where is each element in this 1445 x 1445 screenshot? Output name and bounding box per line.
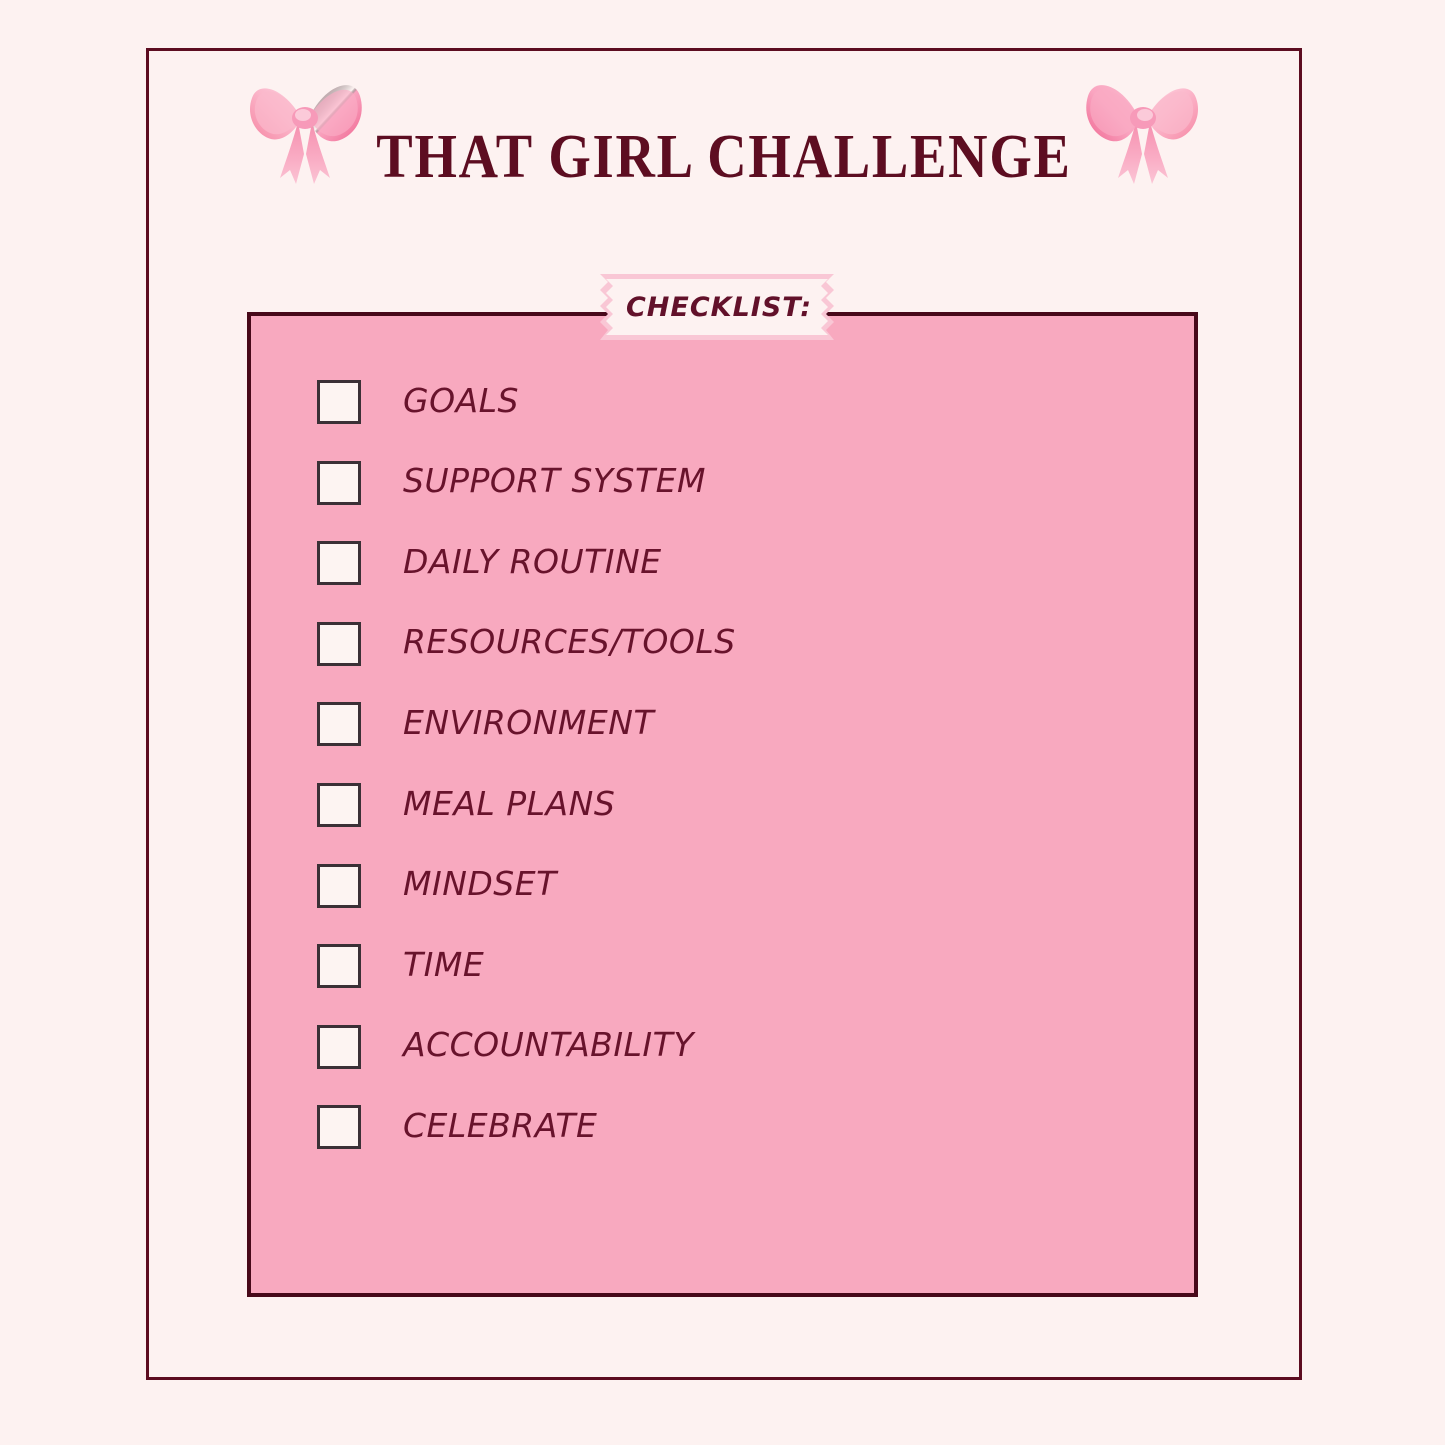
checklist-row[interactable]: CELEBRATE xyxy=(317,1103,597,1151)
page-title: THAT GIRL CHALLENGE xyxy=(215,126,1232,188)
checkbox-resources-tools[interactable] xyxy=(317,622,361,666)
checklist-item-label: ENVIRONMENT xyxy=(403,706,654,739)
checkbox-accountability[interactable] xyxy=(317,1025,361,1069)
checkbox-goals[interactable] xyxy=(317,380,361,424)
checklist-item-label: RESOURCES/TOOLS xyxy=(403,625,736,658)
checkbox-support-system[interactable] xyxy=(317,461,361,505)
checklist-row[interactable]: RESOURCES/TOOLS xyxy=(317,620,736,668)
checkbox-meal-plans[interactable] xyxy=(317,783,361,827)
checkbox-daily-routine[interactable] xyxy=(317,541,361,585)
checklist-item-label: MINDSET xyxy=(403,867,557,900)
checkbox-mindset[interactable] xyxy=(317,864,361,908)
page-canvas: THAT GIRL CHALLENGE GOALSSUPPORT SYSTEMD… xyxy=(0,0,1445,1445)
checklist-row[interactable]: TIME xyxy=(317,942,484,990)
checklist-item-label: DAILY ROUTINE xyxy=(403,545,662,578)
checklist-item-label: CELEBRATE xyxy=(403,1109,597,1142)
checklist-item-label: MEAL PLANS xyxy=(403,787,615,820)
checkbox-celebrate[interactable] xyxy=(317,1105,361,1149)
checklist-item-label: SUPPORT SYSTEM xyxy=(403,464,706,497)
checklist-items-container: GOALSSUPPORT SYSTEMDAILY ROUTINERESOURCE… xyxy=(251,316,1194,1293)
page-header: THAT GIRL CHALLENGE xyxy=(146,48,1302,248)
checklist-row[interactable]: DAILY ROUTINE xyxy=(317,539,662,587)
checklist-banner: CHECKLIST: xyxy=(592,272,842,342)
checklist-row[interactable]: GOALS xyxy=(317,378,519,426)
checklist-item-label: TIME xyxy=(403,948,484,981)
checkbox-time[interactable] xyxy=(317,944,361,988)
checklist-row[interactable]: MINDSET xyxy=(317,862,557,910)
checklist-item-label: GOALS xyxy=(403,384,519,417)
checklist-row[interactable]: MEAL PLANS xyxy=(317,781,615,829)
checklist-banner-label: CHECKLIST: xyxy=(592,272,842,342)
checklist-item-label: ACCOUNTABILITY xyxy=(403,1028,694,1061)
checkbox-environment[interactable] xyxy=(317,702,361,746)
checklist-row[interactable]: ENVIRONMENT xyxy=(317,700,654,748)
checklist-row[interactable]: ACCOUNTABILITY xyxy=(317,1023,694,1071)
checklist-row[interactable]: SUPPORT SYSTEM xyxy=(317,459,706,507)
checklist-panel: GOALSSUPPORT SYSTEMDAILY ROUTINERESOURCE… xyxy=(247,312,1198,1297)
